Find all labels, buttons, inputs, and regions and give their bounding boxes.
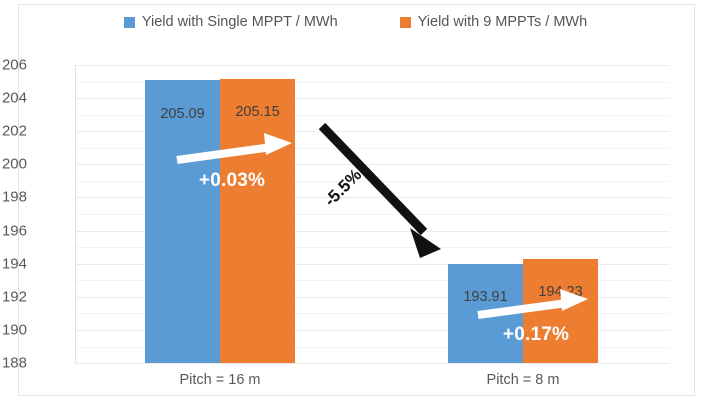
y-tick-192: 192 bbox=[0, 288, 27, 305]
bar-value-pitch16-single-mppt: 205.09 bbox=[145, 106, 220, 122]
y-tick-188: 188 bbox=[0, 355, 27, 372]
y-axis-line bbox=[75, 65, 76, 363]
legend-label-single-mppt: Yield with Single MPPT / MWh bbox=[142, 14, 338, 30]
y-tick-198: 198 bbox=[0, 189, 27, 206]
y-tick-206: 206 bbox=[0, 57, 27, 74]
y-tick-200: 200 bbox=[0, 156, 27, 173]
bar-pitch16-single-mppt[interactable]: 205.09 bbox=[145, 80, 220, 363]
gain-label-pitch8: +0.17% bbox=[503, 324, 569, 346]
legend-item-nine-mppts[interactable]: Yield with 9 MPPTs / MWh bbox=[400, 14, 587, 30]
y-tick-196: 196 bbox=[0, 222, 27, 239]
bar-value-pitch16-nine-mppts: 205.15 bbox=[220, 104, 295, 120]
chart-legend: Yield with Single MPPT / MWh Yield with … bbox=[0, 14, 711, 30]
gridline-188 bbox=[75, 363, 670, 364]
gain-label-pitch16: +0.03% bbox=[199, 170, 265, 192]
gridline-206 bbox=[75, 65, 670, 66]
bar-pitch8-nine-mppts[interactable]: 194.23 bbox=[523, 259, 598, 363]
plot-area: 205.09 205.15 193.91 194.23 bbox=[75, 65, 670, 363]
category-label-pitch-16m: Pitch = 16 m bbox=[180, 372, 261, 388]
y-tick-194: 194 bbox=[0, 255, 27, 272]
bar-value-pitch8-single-mppt: 193.91 bbox=[448, 289, 523, 305]
chart-container: Yield with Single MPPT / MWh Yield with … bbox=[0, 0, 711, 400]
y-tick-190: 190 bbox=[0, 321, 27, 338]
legend-label-nine-mppts: Yield with 9 MPPTs / MWh bbox=[418, 14, 587, 30]
y-tick-204: 204 bbox=[0, 90, 27, 107]
bar-pitch8-single-mppt[interactable]: 193.91 bbox=[448, 264, 523, 363]
bar-value-pitch8-nine-mppts: 194.23 bbox=[523, 284, 598, 300]
category-label-pitch-8m: Pitch = 8 m bbox=[487, 372, 560, 388]
legend-swatch-orange-icon bbox=[400, 17, 411, 28]
legend-swatch-blue-icon bbox=[124, 17, 135, 28]
y-tick-202: 202 bbox=[0, 123, 27, 140]
legend-item-single-mppt[interactable]: Yield with Single MPPT / MWh bbox=[124, 14, 338, 30]
bar-pitch16-nine-mppts[interactable]: 205.15 bbox=[220, 79, 295, 363]
